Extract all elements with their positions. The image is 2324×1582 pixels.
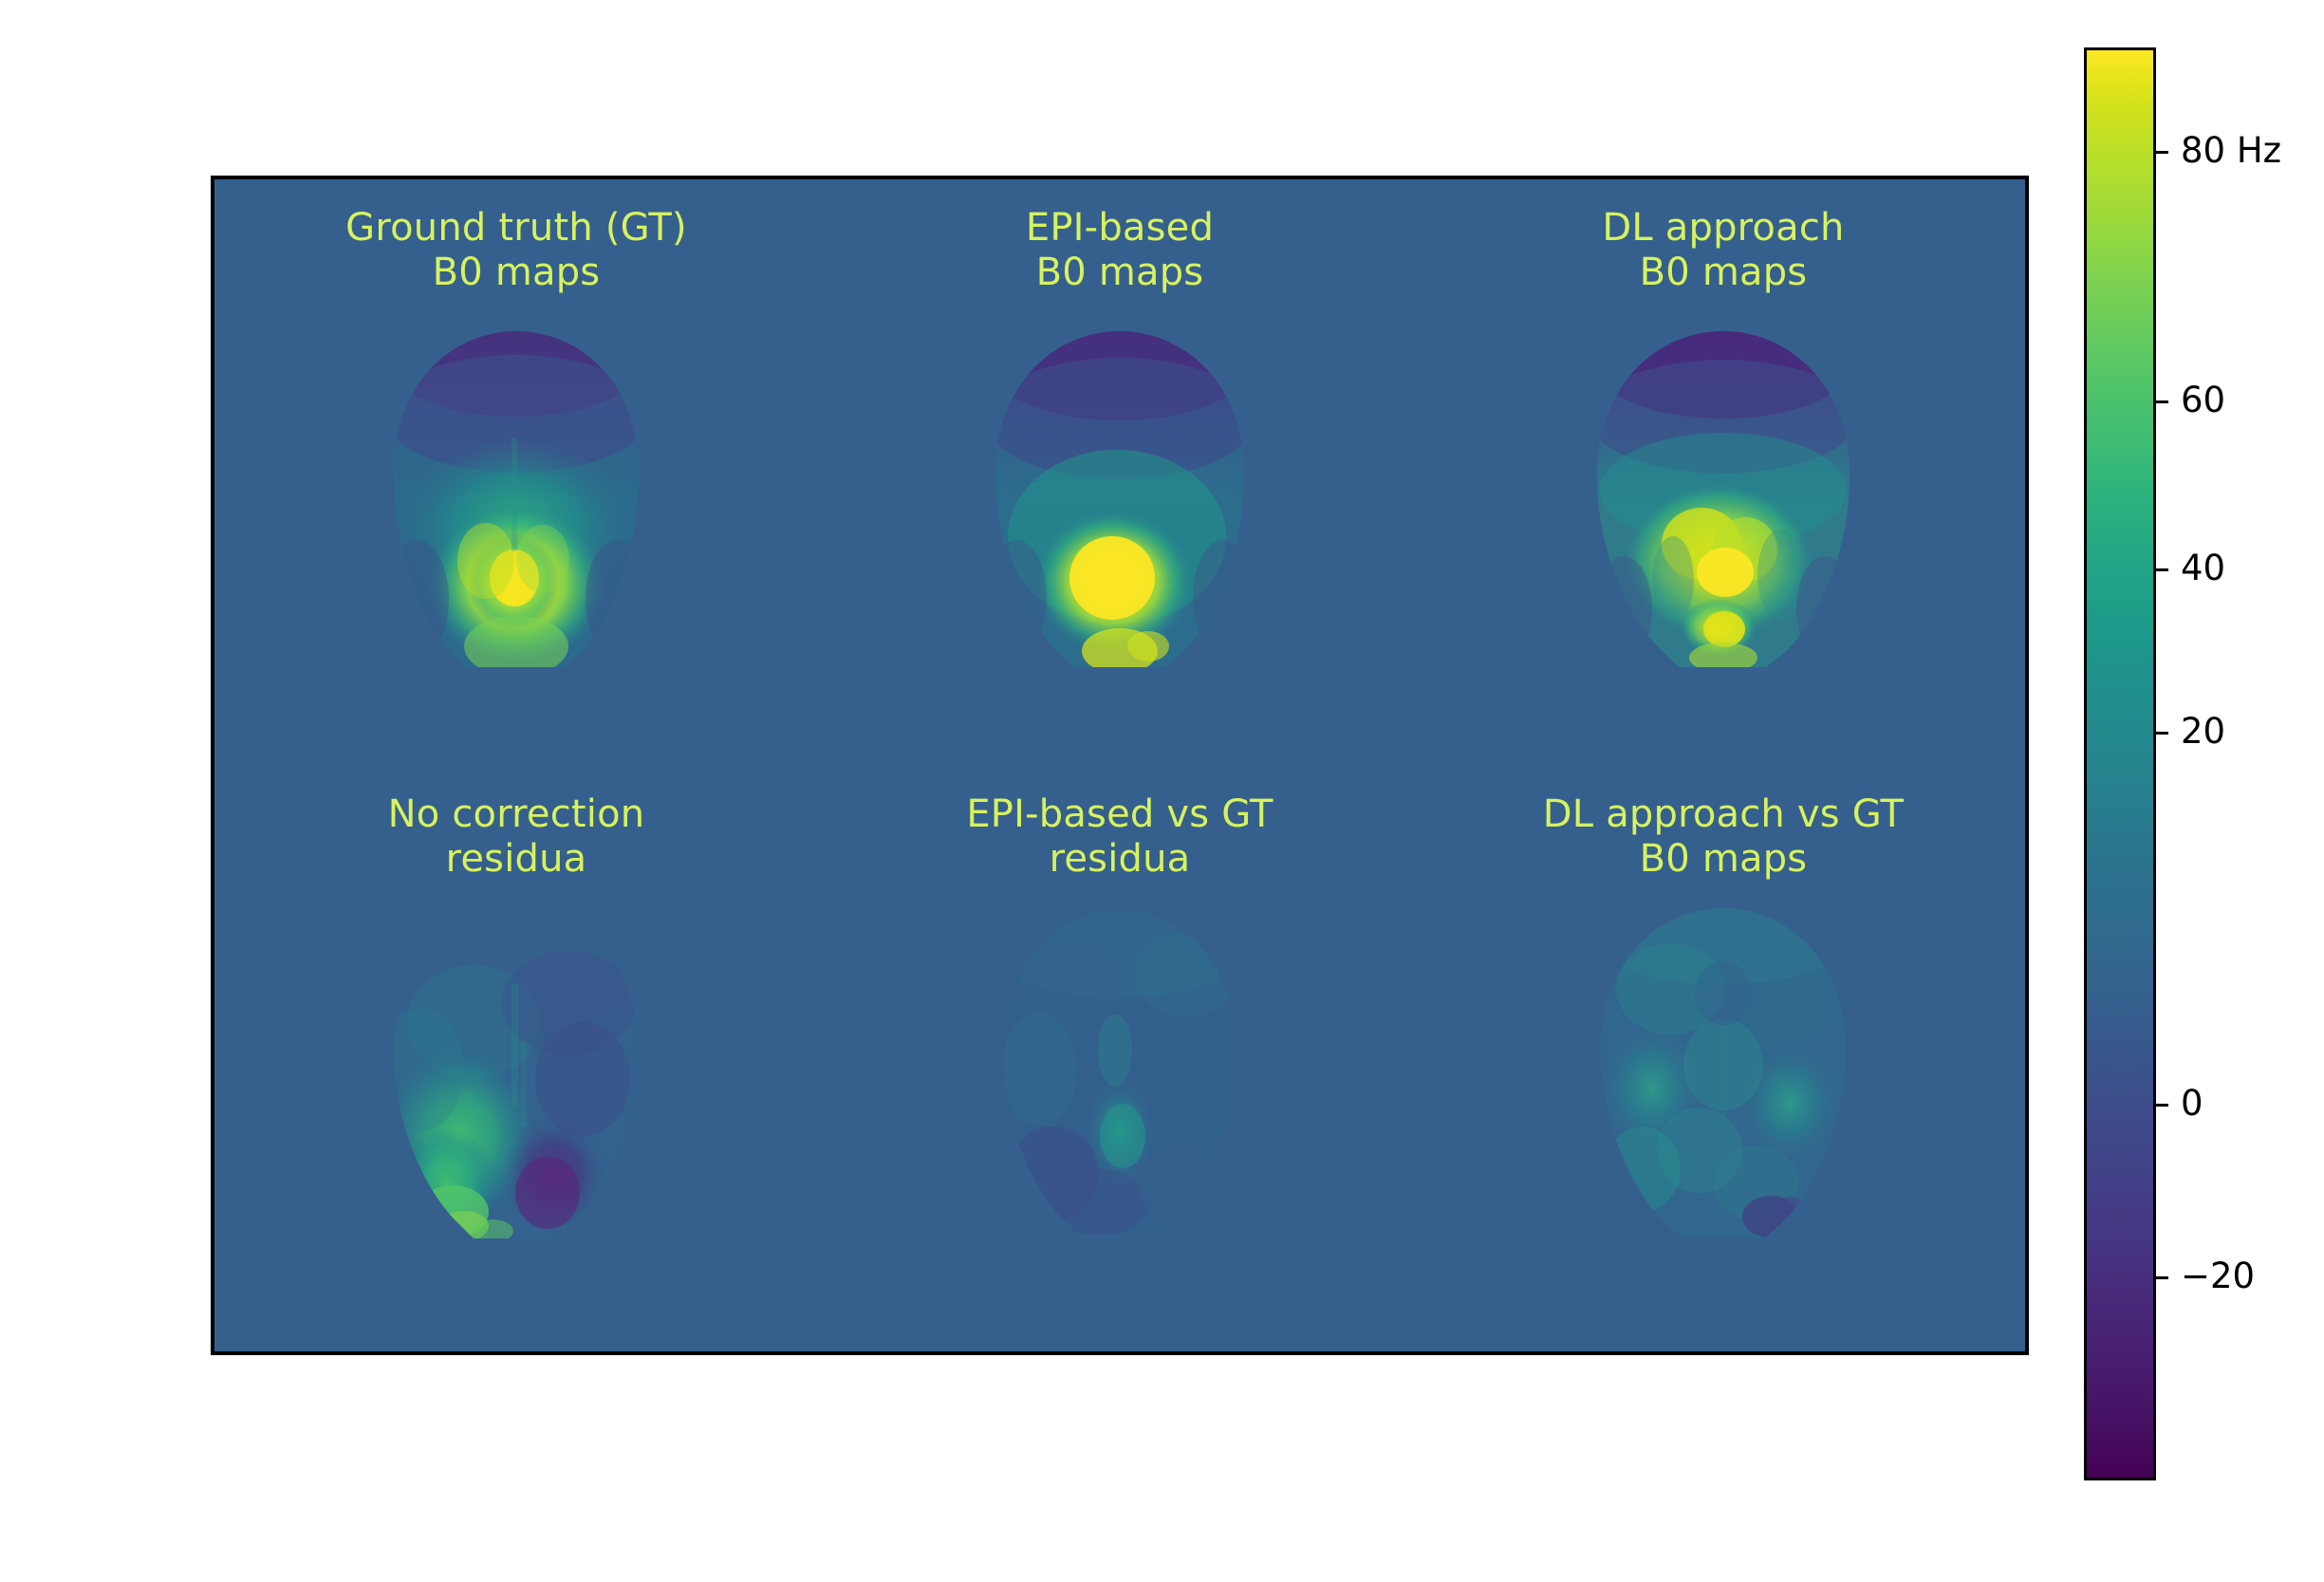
main-axes-panel: Ground truth (GT) B0 maps <box>211 176 2029 1355</box>
subpanel-title-epi-residual: EPI-based vs GT residua <box>818 792 1422 882</box>
brain-mask-residual-nocorr <box>379 899 654 1250</box>
brain-map-epi-residual <box>982 899 1257 1250</box>
brain-mask-gt <box>379 324 654 675</box>
subpanel-title-nocorr-residual: No correction residua <box>214 792 818 882</box>
subpanel-dl-residual: DL approach vs GT B0 maps <box>1422 766 2025 1352</box>
tick-mark-icon <box>2156 568 2168 571</box>
brain-map-nocorr-residual <box>379 899 654 1250</box>
subpanel-epi-residual: EPI-based vs GT residua <box>818 766 1422 1352</box>
brain-map-dl-residual <box>1586 899 1861 1250</box>
brain-map-epi-b0 <box>982 324 1257 675</box>
subpanel-nocorr-residual: No correction residua <box>214 766 818 1352</box>
tick-mark-icon <box>2156 151 2168 154</box>
figure-canvas: Ground truth (GT) B0 maps <box>0 0 2324 1582</box>
colorbar: 80 Hz 60 40 20 0 −20 <box>2084 47 2156 1480</box>
tick-mark-icon <box>2156 732 2168 735</box>
brain-map-dl-b0 <box>1586 324 1861 675</box>
colorbar-gradient <box>2084 47 2156 1480</box>
subpanel-title-dl-b0: DL approach B0 maps <box>1422 206 2025 295</box>
subpanel-gt-b0: Ground truth (GT) B0 maps <box>214 179 818 766</box>
brain-mask-dl <box>1586 324 1861 675</box>
brain-map-gt-b0 <box>379 324 654 675</box>
tick-mark-icon <box>2156 1276 2168 1279</box>
subpanel-title-dl-residual: DL approach vs GT B0 maps <box>1422 792 2025 882</box>
brain-mask-epi <box>982 324 1257 675</box>
subpanel-epi-b0: EPI-based B0 maps <box>818 179 1422 766</box>
tick-mark-icon <box>2156 400 2168 403</box>
tick-mark-icon <box>2156 1104 2168 1107</box>
brain-mask-residual-dl <box>1586 899 1861 1250</box>
brain-mask-residual-epi <box>982 899 1257 1250</box>
subpanel-dl-b0: DL approach B0 maps <box>1422 179 2025 766</box>
subpanel-title-gt-b0: Ground truth (GT) B0 maps <box>214 206 818 295</box>
subpanel-title-epi-b0: EPI-based B0 maps <box>818 206 1422 295</box>
